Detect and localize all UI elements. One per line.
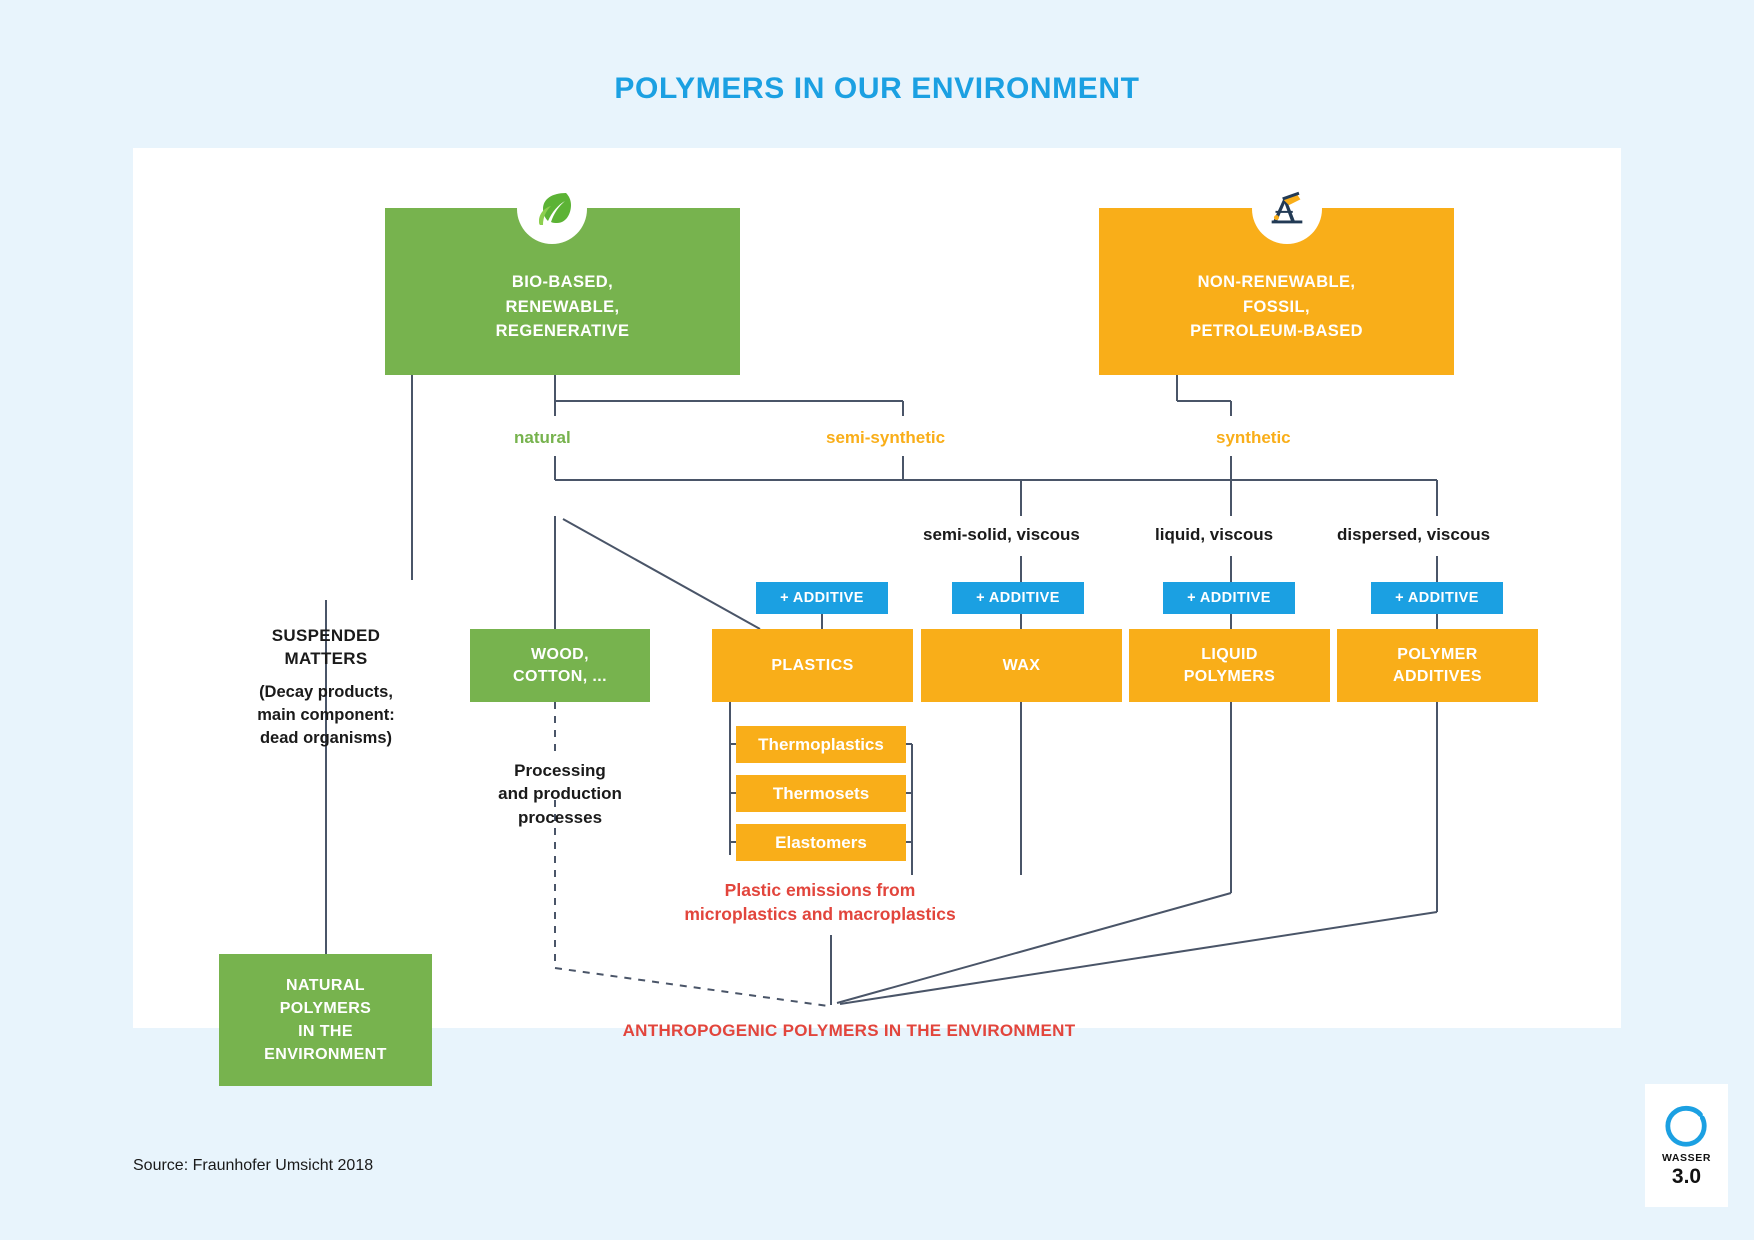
plastic-type-thermoplastics[interactable]: Thermoplastics — [736, 726, 906, 763]
category-box-polymer-additives-label: POLYMER ADDITIVES — [1393, 644, 1482, 687]
leaf-icon — [517, 174, 587, 244]
additive-badge-polymer-additives[interactable]: + ADDITIVE — [1371, 582, 1503, 614]
category-box-wax-label: WAX — [1003, 655, 1041, 677]
oil-pump-icon — [1252, 174, 1322, 244]
category-box-polymer-additives[interactable]: POLYMER ADDITIVES — [1337, 629, 1538, 702]
logo-name-bottom: 3.0 — [1672, 1166, 1701, 1187]
viscosity-label-semi-solid: semi-solid, viscous — [923, 525, 1080, 545]
suspended-matters-block: SUSPENDED MATTERS (Decay products, main … — [212, 625, 440, 750]
category-box-liquid-polymers[interactable]: LIQUID POLYMERS — [1129, 629, 1330, 702]
category-box-wax[interactable]: WAX — [921, 629, 1122, 702]
viscosity-label-dispersed: dispersed, viscous — [1337, 525, 1490, 545]
plastic-emissions-label: Plastic emissions from microplastics and… — [620, 879, 1020, 927]
plastic-type-thermosets[interactable]: Thermosets — [736, 775, 906, 812]
source-box-fossil[interactable]: NON-RENEWABLE, FOSSIL, PETROLEUM-BASED — [1099, 208, 1454, 375]
source-box-fossil-label: NON-RENEWABLE, FOSSIL, PETROLEUM-BASED — [1190, 270, 1363, 343]
category-box-wood-cotton-label: WOOD, COTTON, ... — [513, 644, 607, 687]
processing-label: Processing and production processes — [455, 759, 665, 829]
wasser-3-0-logo: WASSER 3.0 — [1645, 1084, 1728, 1207]
suspended-matters-detail: (Decay products, main component: dead or… — [212, 681, 440, 749]
natural-polymers-box[interactable]: NATURAL POLYMERS IN THE ENVIRONMENT — [219, 954, 432, 1086]
source-box-bio-based[interactable]: BIO-BASED, RENEWABLE, REGENERATIVE — [385, 208, 740, 375]
page-title: POLYMERS IN OUR ENVIRONMENT — [0, 72, 1754, 106]
plastic-type-elastomers[interactable]: Elastomers — [736, 824, 906, 861]
branch-label-synthetic: synthetic — [1216, 428, 1291, 448]
additive-badge-wax[interactable]: + ADDITIVE — [952, 582, 1084, 614]
category-box-liquid-polymers-label: LIQUID POLYMERS — [1184, 644, 1276, 687]
category-box-plastics-label: PLASTICS — [771, 655, 853, 677]
logo-name-top: WASSER — [1662, 1152, 1711, 1164]
source-box-bio-label: BIO-BASED, RENEWABLE, REGENERATIVE — [496, 270, 630, 343]
branch-label-semi-synthetic: semi-synthetic — [826, 428, 945, 448]
viscosity-label-liquid: liquid, viscous — [1155, 525, 1273, 545]
wasser-circle-icon — [1664, 1104, 1710, 1150]
branch-label-natural: natural — [514, 428, 571, 448]
natural-polymers-label: NATURAL POLYMERS IN THE ENVIRONMENT — [264, 974, 387, 1067]
additive-badge-liquid-polymers[interactable]: + ADDITIVE — [1163, 582, 1295, 614]
infographic-root: POLYMERS IN OUR ENVIRONMENT — [0, 0, 1754, 1240]
category-box-wood-cotton[interactable]: WOOD, COTTON, ... — [470, 629, 650, 702]
additive-badge-plastics[interactable]: + ADDITIVE — [756, 582, 888, 614]
suspended-matters-heading: SUSPENDED MATTERS — [212, 625, 440, 670]
source-note: Source: Fraunhofer Umsicht 2018 — [133, 1157, 373, 1175]
anthropogenic-polymers-label: ANTHROPOGENIC POLYMERS IN THE ENVIRONMEN… — [519, 1021, 1179, 1041]
category-box-plastics[interactable]: PLASTICS — [712, 629, 913, 702]
